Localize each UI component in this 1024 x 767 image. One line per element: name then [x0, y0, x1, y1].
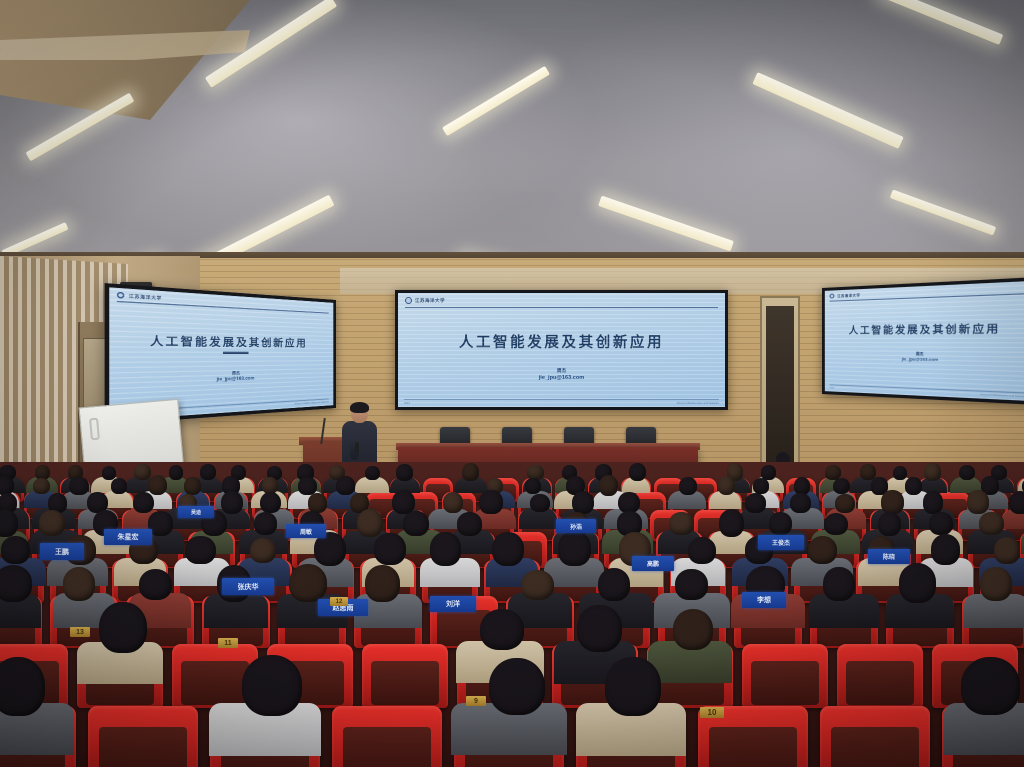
seat[interactable] [332, 706, 442, 767]
attendee-head [521, 570, 554, 600]
attendee-head [298, 477, 316, 495]
attendee-head [769, 512, 792, 535]
attendee-head [961, 657, 1020, 715]
attendee-head [336, 476, 356, 494]
slide-speaker-name: 周杰 [398, 368, 725, 374]
attendee-head [457, 512, 482, 536]
attendee-head [1009, 491, 1024, 514]
whiteboard-handle [89, 418, 100, 441]
seat-nameplate[interactable]: 张庆华 [222, 578, 274, 595]
slide-title: 人工智能发展及其创新应用 [398, 331, 725, 352]
attendee-head [374, 533, 406, 565]
attendee-head [403, 511, 428, 536]
attendee-head [200, 464, 216, 480]
seat-nameplate[interactable]: 朱星宏 [104, 529, 152, 545]
attendee-head [250, 538, 276, 564]
audience-seating: 王鹏朱星宏张庆华赵思雨刘洋李想王俊杰陈晓孙浩周敏高鹏吴迪 131210119 [0, 462, 1024, 767]
screen-right: 江苏海洋大学 人工智能发展及其创新应用 周杰 jie_jpu@163.com 2… [822, 277, 1024, 405]
attendee-head [931, 534, 961, 565]
attendee-head [599, 475, 618, 496]
screen-main: 江苏海洋大学 人工智能发展及其创新应用 周杰 jie_jpu@163.com 2… [395, 290, 728, 410]
attendee-head [33, 478, 50, 495]
attendee-head [479, 490, 502, 514]
attendee-head [365, 565, 400, 602]
attendee-head [994, 537, 1020, 563]
attendee-head [881, 490, 903, 514]
attendee-head [1, 536, 30, 563]
attendee-head [357, 509, 383, 536]
attendee-head [967, 490, 989, 513]
seat-nameplate[interactable]: 孙浩 [556, 519, 596, 533]
attendee-head [790, 493, 811, 513]
attendee-head [924, 463, 941, 481]
attendee-head [923, 491, 944, 514]
attendee-head [833, 478, 851, 495]
lecture-hall-photo: 江苏海洋大学 人工智能发展及其创新应用 周杰 jie_jpu@163.com 2… [0, 0, 1024, 767]
slide-footer: 2024 School of Mathematics and Statistic… [398, 402, 725, 407]
slide-title: 人工智能发展及其创新应用 [109, 330, 333, 350]
attendee-head [794, 477, 811, 494]
attendee-head [808, 536, 837, 564]
seat[interactable] [88, 706, 198, 767]
seat-number: 10 [700, 707, 724, 718]
attendee-head [824, 513, 849, 536]
attendee-head [133, 492, 154, 514]
attendee-head [530, 494, 550, 512]
attendee-head [111, 478, 127, 494]
university-logo-text: 江苏海洋大学 [837, 292, 860, 298]
attendee-head [577, 605, 622, 652]
right-door[interactable] [766, 306, 794, 474]
attendee-head [679, 477, 697, 495]
attendee-head [893, 466, 907, 480]
attendee-head [365, 466, 380, 480]
attendee-head [489, 658, 545, 715]
seat-number: 12 [330, 597, 348, 606]
seat[interactable] [362, 644, 448, 708]
attendee-head [823, 567, 855, 601]
attendee-head [102, 466, 117, 480]
attendee-head [980, 567, 1012, 601]
slide-footer-rule [404, 399, 719, 400]
seat-nameplate[interactable]: 陈晓 [868, 549, 910, 564]
attendee-head [905, 477, 922, 495]
seat-nameplate[interactable]: 刘洋 [430, 596, 476, 612]
attendee-head [673, 609, 713, 650]
attendee-head [929, 512, 953, 535]
attendee-head [899, 563, 937, 602]
attendee-head [572, 491, 594, 514]
attendee-head [134, 464, 150, 480]
attendee-head [558, 531, 590, 566]
attendee-head [169, 465, 183, 480]
seat-nameplate[interactable]: 高鹏 [632, 556, 674, 571]
attendee-head [492, 532, 524, 566]
attendee-head [878, 512, 901, 536]
attendee-head [396, 464, 413, 481]
slide-footer-center: School of Mathematics and Statistics [980, 394, 1024, 398]
attendee-head [605, 657, 661, 716]
slide-header: 江苏海洋大学 [398, 293, 725, 304]
university-logo-icon [117, 292, 124, 299]
seat-nameplate[interactable]: 周敏 [286, 524, 326, 538]
seat-nameplate[interactable]: 李想 [742, 592, 786, 608]
university-logo-text: 江苏海洋大学 [415, 298, 445, 304]
attendee-head [598, 568, 630, 601]
slide-speaker-email: jie_jpu@163.com [398, 375, 725, 381]
attendee-head [443, 492, 463, 513]
university-logo-text: 江苏海洋大学 [129, 293, 162, 301]
seat[interactable] [742, 644, 828, 708]
attendee-head [430, 532, 461, 565]
attendee-head [0, 476, 14, 495]
attendee-head [221, 491, 243, 514]
seat[interactable] [837, 644, 923, 708]
slide-footer-center: School of Mathematics and Statistics [294, 401, 328, 405]
attendee-head [745, 493, 766, 513]
seat-nameplate[interactable]: 吴迪 [178, 506, 214, 518]
attendee-head [718, 476, 735, 495]
attendee-head [669, 512, 694, 535]
attendee-head [979, 512, 1003, 535]
attendee-head [308, 493, 327, 512]
attendee-head [63, 567, 96, 600]
seat-nameplate[interactable]: 王俊杰 [758, 535, 804, 550]
slide-footer-center: School of Mathematics and Statistics [677, 402, 719, 405]
slide-main: 江苏海洋大学 人工智能发展及其创新应用 周杰 jie_jpu@163.com 2… [398, 293, 725, 407]
attendee-head [139, 569, 173, 600]
attendee-head [688, 537, 716, 564]
slide-header-rule [405, 307, 718, 308]
attendee-head [675, 569, 708, 600]
attendee-head [289, 564, 327, 603]
slide-right: 江苏海洋大学 人工智能发展及其创新应用 周杰 jie_jpu@163.com 2… [825, 281, 1024, 401]
attendee-head [753, 478, 770, 493]
slide-title-underline [223, 352, 249, 354]
attendee-head [184, 477, 201, 495]
attendee-head [260, 492, 281, 514]
slide-speaker-email: jie_jpu@163.com [825, 355, 1024, 364]
seat-number: 13 [70, 627, 90, 637]
university-logo-icon [830, 293, 835, 298]
seat[interactable] [820, 706, 930, 767]
attendee-head [242, 655, 302, 716]
attendee-head [618, 492, 639, 514]
attendee-head [719, 509, 745, 537]
university-logo-icon [405, 297, 412, 304]
presenter-hair [350, 402, 369, 413]
attendee-head [525, 478, 541, 495]
attendee-head [254, 512, 277, 535]
slide-footer-left: 2024 [404, 402, 410, 405]
attendee-head [629, 463, 646, 481]
handheld-microphone-icon [355, 442, 359, 453]
slide-left: 江苏海洋大学 人工智能发展及其创新应用 周杰 jie_jpu@163.com 2… [109, 287, 333, 420]
attendee-head [959, 465, 975, 481]
slide-title: 人工智能发展及其创新应用 [825, 319, 1024, 337]
slide-footer-left: 2024 [830, 387, 835, 389]
attendee-head [39, 510, 65, 536]
seat-nameplate[interactable]: 王鹏 [40, 543, 84, 560]
attendee-head [0, 565, 32, 601]
attendee-head [99, 602, 147, 654]
seat-number: 9 [466, 696, 486, 706]
attendee-head [835, 494, 855, 513]
attendee-head [462, 463, 479, 481]
attendee-head [69, 477, 89, 495]
seat-number: 11 [218, 638, 238, 648]
attendee-head [185, 536, 215, 565]
attendee-head [0, 657, 45, 716]
attendee-head [480, 609, 524, 650]
attendee-head [148, 475, 168, 495]
